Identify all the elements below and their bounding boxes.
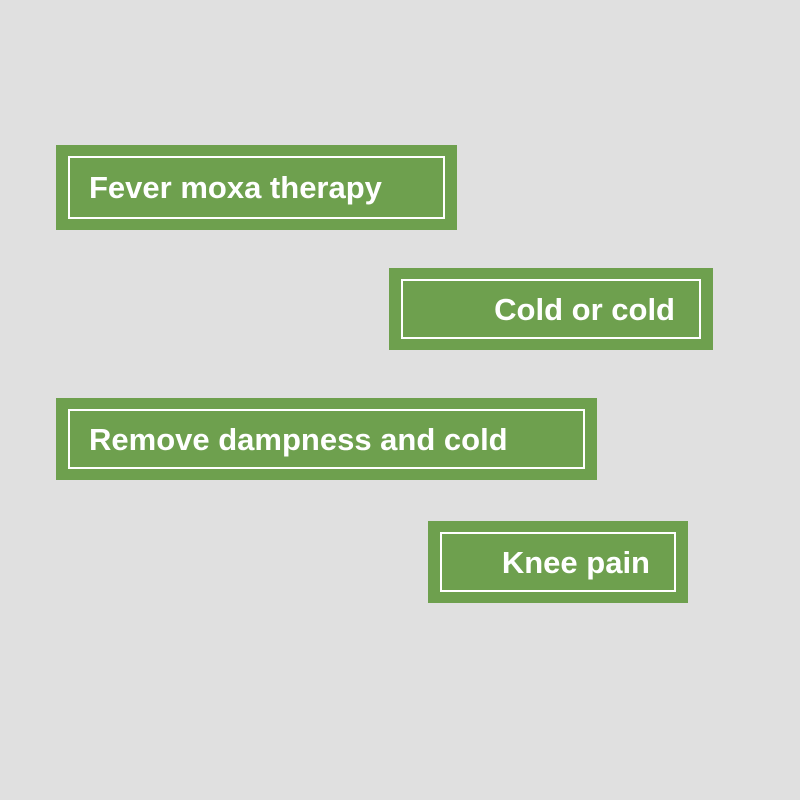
label-box-text: Cold or cold [403, 294, 699, 325]
label-box-text: Fever moxa therapy [70, 172, 443, 203]
label-box-inner-border: Remove dampness and cold [68, 409, 585, 469]
diagram-canvas: Fever moxa therapy Cold or cold Remove d… [0, 0, 800, 800]
label-box-text: Knee pain [442, 547, 674, 578]
label-box-cold-or-cold[interactable]: Cold or cold [389, 268, 713, 350]
label-box-text: Remove dampness and cold [70, 424, 583, 455]
label-box-knee-pain[interactable]: Knee pain [428, 521, 688, 603]
label-box-inner-border: Fever moxa therapy [68, 156, 445, 219]
label-box-remove-dampness-and-cold[interactable]: Remove dampness and cold [56, 398, 597, 480]
label-box-fever-moxa-therapy[interactable]: Fever moxa therapy [56, 145, 457, 230]
label-box-inner-border: Cold or cold [401, 279, 701, 339]
label-box-inner-border: Knee pain [440, 532, 676, 592]
